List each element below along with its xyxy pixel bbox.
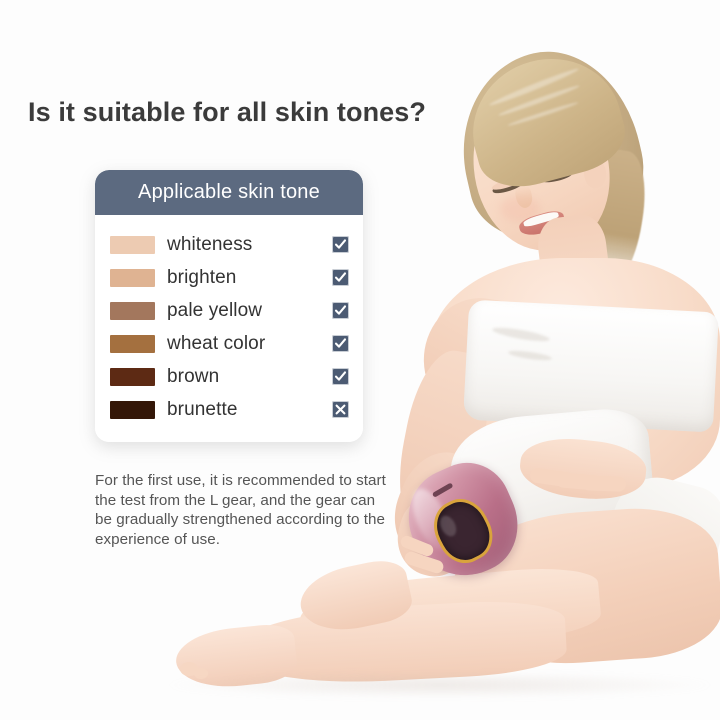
check-icon[interactable] <box>332 302 349 319</box>
skin-tone-label: brown <box>167 366 332 388</box>
page-root: Is it suitable for all skin tones? Appli… <box>0 0 720 720</box>
skin-tone-swatch <box>110 302 155 320</box>
cross-icon[interactable] <box>332 401 349 418</box>
skin-tone-row: brunette <box>95 393 363 426</box>
skin-tone-swatch <box>110 401 155 419</box>
skin-tone-row: whiteness <box>95 228 363 261</box>
skin-tone-row: brighten <box>95 261 363 294</box>
card-header: Applicable skin tone <box>95 170 363 215</box>
skin-tone-swatch <box>110 335 155 353</box>
skin-tone-row: wheat color <box>95 327 363 360</box>
skin-tone-label: whiteness <box>167 234 332 256</box>
applicable-skin-tone-card: Applicable skin tone whitenessbrightenpa… <box>95 170 363 442</box>
skin-tone-row: pale yellow <box>95 294 363 327</box>
floor-shadow <box>170 672 710 698</box>
skin-tone-row: brown <box>95 360 363 393</box>
page-title: Is it suitable for all skin tones? <box>28 97 448 128</box>
device-window-highlight <box>437 513 459 539</box>
device-indicator-slot <box>432 482 454 497</box>
skin-tone-label: brunette <box>167 399 332 421</box>
skin-tone-swatch <box>110 368 155 386</box>
usage-note: For the first use, it is recommended to … <box>95 471 395 549</box>
finger <box>582 475 626 492</box>
skin-tone-swatch <box>110 236 155 254</box>
check-icon[interactable] <box>332 236 349 253</box>
skin-tone-label: pale yellow <box>167 300 332 322</box>
skin-tone-label: wheat color <box>167 333 332 355</box>
card-header-title: Applicable skin tone <box>138 181 320 204</box>
check-icon[interactable] <box>332 335 349 352</box>
check-icon[interactable] <box>332 269 349 286</box>
skin-tone-swatch <box>110 269 155 287</box>
skin-tone-list: whitenessbrightenpale yellowwheat colorb… <box>95 215 363 442</box>
skin-tone-label: brighten <box>167 267 332 289</box>
check-icon[interactable] <box>332 368 349 385</box>
